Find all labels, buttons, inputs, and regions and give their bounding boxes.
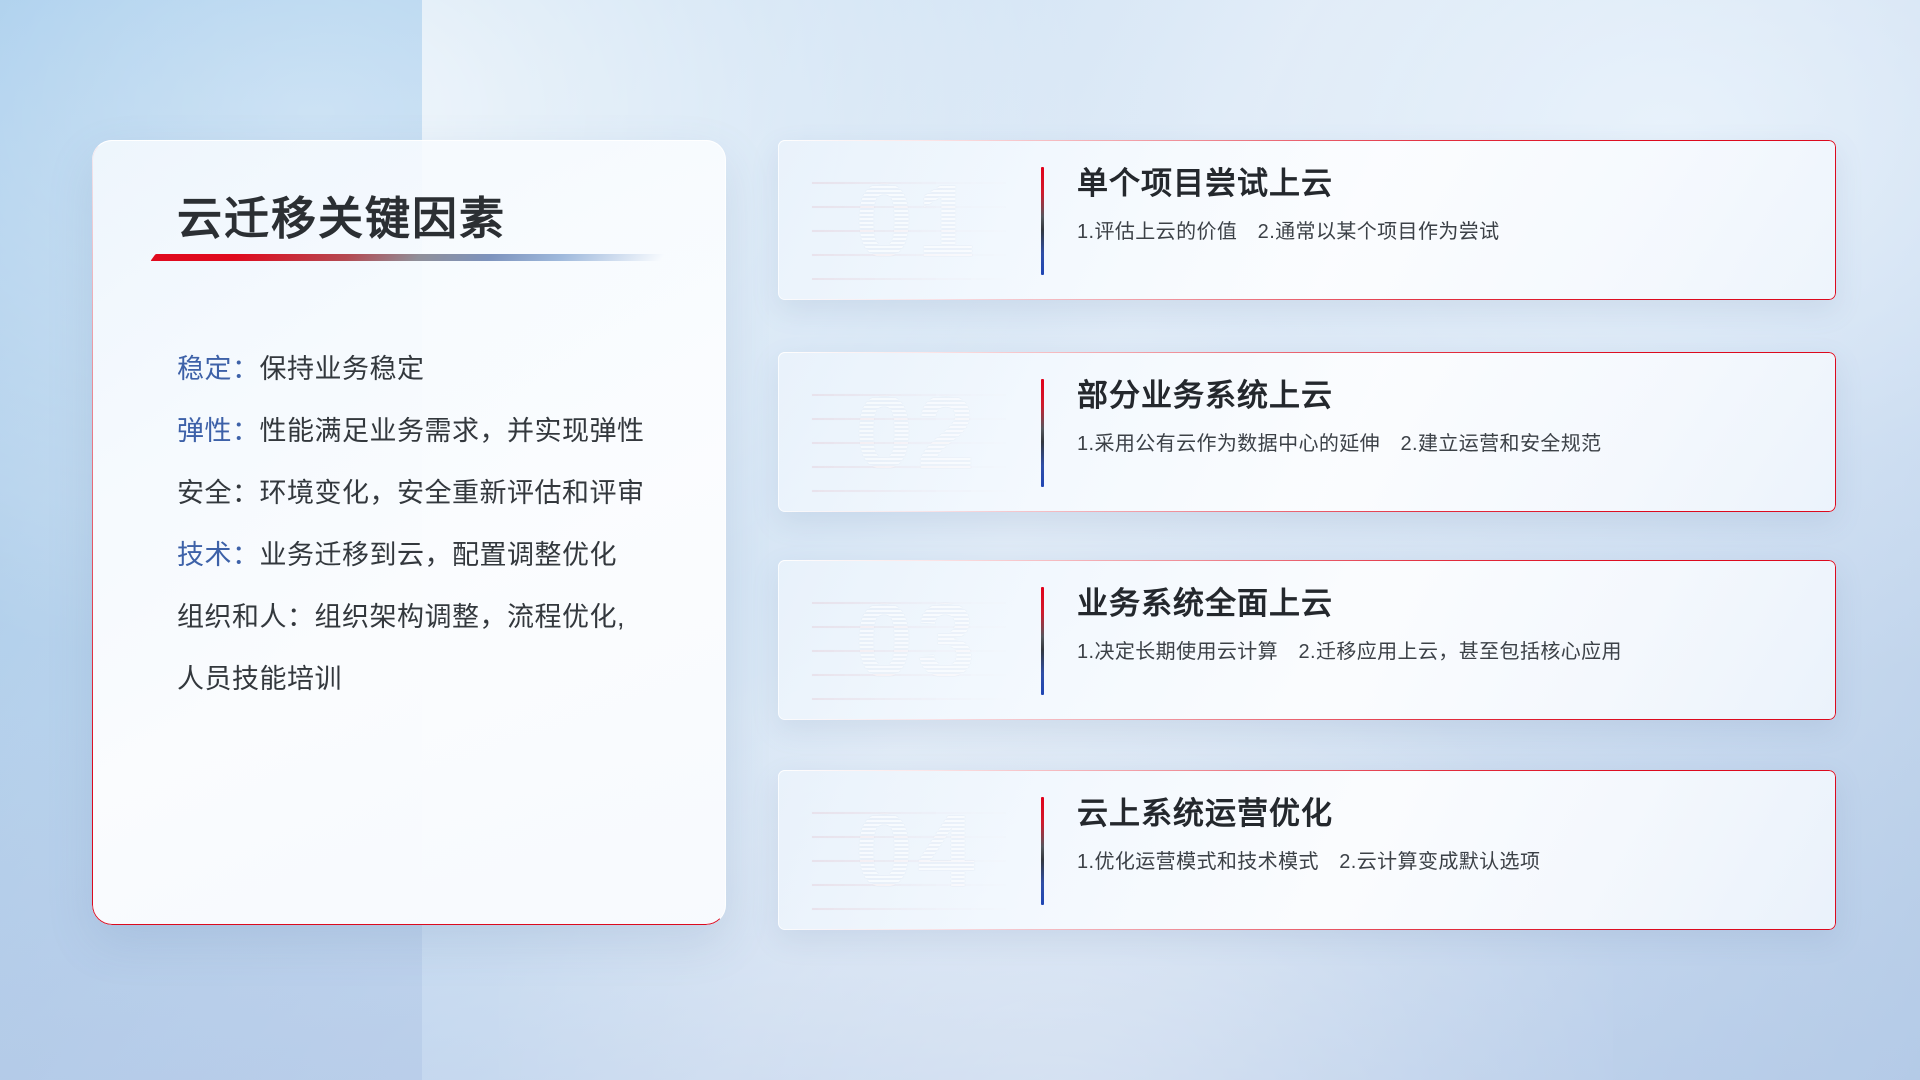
step-body: 业务系统全面上云 1.决定长期使用云计算 2.迁移应用上云，甚至包括核心应用 xyxy=(1077,582,1812,667)
step-description: 1.评估上云的价值 2.通常以某个项目作为尝试 xyxy=(1077,217,1812,247)
step-number: 04 xyxy=(812,790,1022,912)
factor-text: 性能满足业务需求，并实现弹性 xyxy=(260,409,645,448)
factor-text: 环境变化，安全重新评估和评审 xyxy=(260,471,645,510)
factor-text: 业务迁移到云，配置调整优化 xyxy=(260,533,618,572)
title-underline-gradient xyxy=(150,254,665,261)
factor-label: 稳定： xyxy=(177,347,260,386)
slide-stage: 云迁移关键因素 稳定： 保持业务稳定 弹性： 性能满足业务需求，并实现弹性 安全… xyxy=(0,0,1920,1080)
step-title: 单个项目尝试上云 xyxy=(1077,162,1812,206)
step-card-04[interactable]: 04 云上系统运营优化 1.优化运营模式和技术模式 2.云计算变成默认选项 xyxy=(778,770,1836,930)
step-number: 02 xyxy=(812,372,1022,494)
factor-row-continuation: 人员技能培训 xyxy=(177,645,697,707)
step-body: 部分业务系统上云 1.采用公有云作为数据中心的延伸 2.建立运营和安全规范 xyxy=(1077,374,1812,459)
key-factors-panel: 云迁移关键因素 稳定： 保持业务稳定 弹性： 性能满足业务需求，并实现弹性 安全… xyxy=(92,140,726,925)
step-description: 1.决定长期使用云计算 2.迁移应用上云，甚至包括核心应用 xyxy=(1077,637,1812,667)
step-divider-bar xyxy=(1041,379,1044,487)
factor-label: 安全： xyxy=(177,471,260,510)
step-body: 云上系统运营优化 1.优化运营模式和技术模式 2.云计算变成默认选项 xyxy=(1077,792,1812,877)
step-body: 单个项目尝试上云 1.评估上云的价值 2.通常以某个项目作为尝试 xyxy=(1077,162,1812,247)
factor-list: 稳定： 保持业务稳定 弹性： 性能满足业务需求，并实现弹性 安全： 环境变化，安… xyxy=(177,335,697,707)
factor-label: 技术： xyxy=(177,533,260,572)
factor-row: 组织和人： 组织架构调整，流程优化, xyxy=(177,583,697,645)
factor-row: 安全： 环境变化，安全重新评估和评审 xyxy=(177,459,697,521)
step-divider-bar xyxy=(1041,587,1044,695)
step-description: 1.优化运营模式和技术模式 2.云计算变成默认选项 xyxy=(1077,847,1812,877)
factor-row: 技术： 业务迁移到云，配置调整优化 xyxy=(177,521,697,583)
step-number: 03 xyxy=(812,580,1022,702)
factor-label: 组织和人： xyxy=(177,595,315,634)
factor-row: 弹性： 性能满足业务需求，并实现弹性 xyxy=(177,397,697,459)
step-title: 业务系统全面上云 xyxy=(1077,582,1812,626)
page-title: 云迁移关键因素 xyxy=(177,182,506,247)
step-number: 01 xyxy=(812,160,1022,282)
step-description: 1.采用公有云作为数据中心的延伸 2.建立运营和安全规范 xyxy=(1077,429,1812,459)
step-divider-bar xyxy=(1041,167,1044,275)
step-card-01[interactable]: 01 单个项目尝试上云 1.评估上云的价值 2.通常以某个项目作为尝试 xyxy=(778,140,1836,300)
factor-label: 弹性： xyxy=(177,409,260,448)
factor-text: 组织架构调整，流程优化, xyxy=(315,595,626,634)
step-card-02[interactable]: 02 部分业务系统上云 1.采用公有云作为数据中心的延伸 2.建立运营和安全规范 xyxy=(778,352,1836,512)
step-card-03[interactable]: 03 业务系统全面上云 1.决定长期使用云计算 2.迁移应用上云，甚至包括核心应… xyxy=(778,560,1836,720)
step-title: 云上系统运营优化 xyxy=(1077,792,1812,836)
factor-text: 人员技能培训 xyxy=(177,657,342,696)
step-title: 部分业务系统上云 xyxy=(1077,374,1812,418)
factor-text: 保持业务稳定 xyxy=(260,347,425,386)
step-divider-bar xyxy=(1041,797,1044,905)
factor-row: 稳定： 保持业务稳定 xyxy=(177,335,697,397)
